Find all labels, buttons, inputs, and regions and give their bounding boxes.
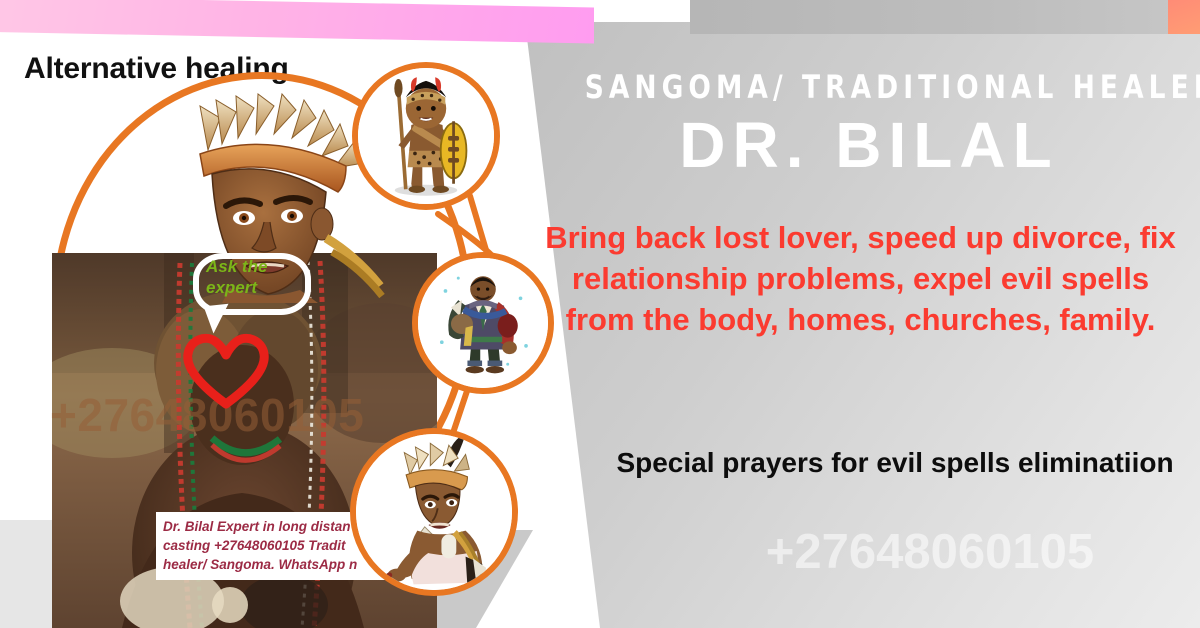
badge-crouching-dancer <box>350 428 518 596</box>
poster-canvas: Alternative healing <box>0 0 1200 628</box>
crouching-dancer-illustration <box>356 434 512 590</box>
phone-watermark: +27648060105 <box>660 524 1200 580</box>
kicker-text: SANGOMA/ TRADITIONAL HEALER <box>585 68 1154 106</box>
healer-name: DR. BILAL <box>560 108 1178 182</box>
badge-zulu-warrior <box>352 62 500 210</box>
services-text: Bring back lost lover, speed up divorce,… <box>538 218 1183 341</box>
top-orange-bar-accent <box>1168 0 1200 34</box>
zulu-warrior-illustration <box>358 68 494 204</box>
top-gray-bar <box>690 0 1180 34</box>
badge-traveling-healer <box>412 252 554 394</box>
traveling-healer-illustration <box>418 258 548 388</box>
prayers-text: Special prayers for evil spells eliminat… <box>600 444 1190 482</box>
